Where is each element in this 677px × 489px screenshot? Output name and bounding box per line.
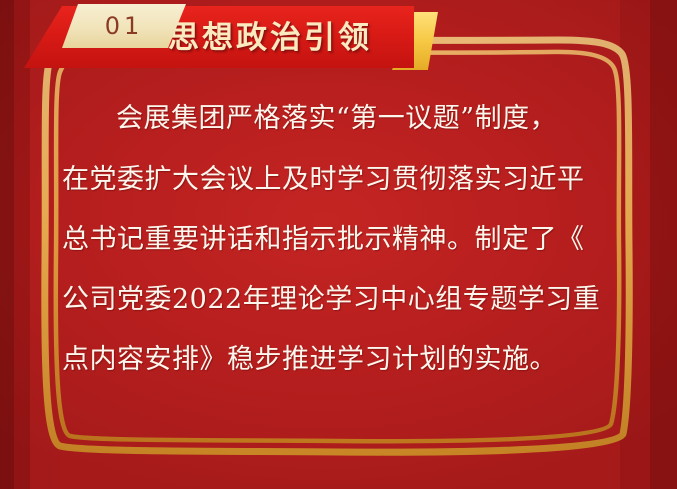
body-text-line: 公司党委2022年理论学习中心组专题学习重 <box>62 270 618 330</box>
poster-card: 思想政治引领 01 会展集团严格落实“第一议题”制度， 在党委扩大会议上及时学习… <box>0 0 677 489</box>
header-banner: 思想政治引领 01 <box>0 0 677 90</box>
section-title: 思想政治引领 <box>168 14 372 62</box>
body-text-block: 会展集团严格落实“第一议题”制度， 在党委扩大会议上及时学习贯彻落实习近平 总书… <box>62 88 618 390</box>
body-text-line: 点内容安排》稳步推进学习计划的实施。 <box>62 330 618 390</box>
body-text-line: 在党委扩大会议上及时学习贯彻落实习近平 <box>62 150 618 210</box>
body-text-line: 会展集团严格落实“第一议题”制度， <box>62 88 618 150</box>
body-text-line: 总书记重要讲话和指示批示精神。制定了《 <box>62 210 618 270</box>
section-number-label: 01 <box>62 4 186 48</box>
